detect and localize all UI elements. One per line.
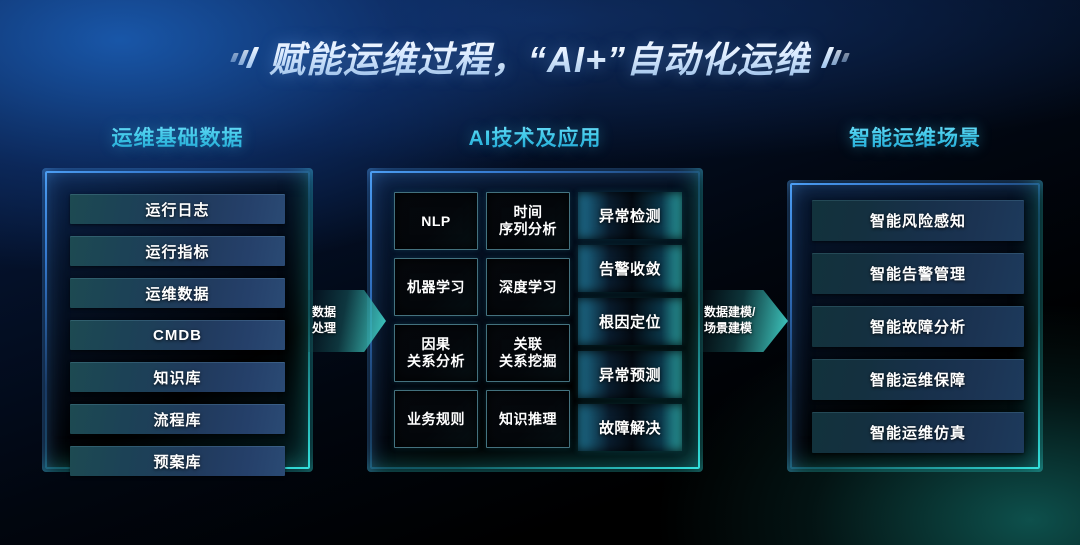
capability-card[interactable]: 故障解决 <box>578 404 682 451</box>
title-bar: 赋能运维过程，“AI+”自动化运维 <box>0 26 1080 88</box>
tech-card[interactable]: NLP <box>394 192 478 250</box>
column-header-middle: AI技术及应用 <box>370 122 700 152</box>
tech-card-label: 因果关系分析 <box>407 336 465 369</box>
arrow-label-2: 数据建模/场景建模 <box>704 305 755 336</box>
tech-card[interactable]: 深度学习 <box>486 258 570 316</box>
tech-card[interactable]: 关联关系挖掘 <box>486 324 570 382</box>
list-item[interactable]: 知识库 <box>70 362 285 392</box>
tech-card-label: 关联关系挖掘 <box>499 336 557 369</box>
list-item[interactable]: CMDB <box>70 320 285 350</box>
list-item[interactable]: 智能故障分析 <box>812 306 1024 347</box>
title-left-slash-decor-icon <box>232 42 255 72</box>
capability-card[interactable]: 异常检测 <box>578 192 682 239</box>
tech-card[interactable]: 机器学习 <box>394 258 478 316</box>
title-right-slash-decor-icon <box>825 42 848 72</box>
ai-tech-grid: NLP时间序列分析机器学习深度学习因果关系分析关联关系挖掘业务规则知识推理 <box>394 192 570 448</box>
tech-card-label: 深度学习 <box>499 279 557 296</box>
tech-card-label: NLP <box>421 213 451 230</box>
tech-card[interactable]: 知识推理 <box>486 390 570 448</box>
list-item[interactable]: 运维数据 <box>70 278 285 308</box>
list-item[interactable]: 预案库 <box>70 446 285 476</box>
slide-canvas: 赋能运维过程，“AI+”自动化运维 运维基础数据 AI技术及应用 智能运维场景 … <box>0 0 1080 545</box>
tech-card[interactable]: 时间序列分析 <box>486 192 570 250</box>
arrow-label-1: 数据处理 <box>312 305 336 336</box>
ai-capability-list: 异常检测告警收敛根因定位异常预测故障解决 <box>578 192 682 451</box>
tech-card-label: 机器学习 <box>407 279 465 296</box>
tech-card-label: 时间序列分析 <box>499 204 557 237</box>
capability-card[interactable]: 根因定位 <box>578 298 682 345</box>
page-title: 赋能运维过程，“AI+”自动化运维 <box>269 31 811 83</box>
capability-card[interactable]: 异常预测 <box>578 351 682 398</box>
scenario-list: 智能风险感知智能告警管理智能故障分析智能运维保障智能运维仿真 <box>812 200 1024 453</box>
list-item[interactable]: 智能运维保障 <box>812 359 1024 400</box>
list-item[interactable]: 智能运维仿真 <box>812 412 1024 453</box>
list-item[interactable]: 智能风险感知 <box>812 200 1024 241</box>
list-item[interactable]: 流程库 <box>70 404 285 434</box>
column-header-left: 运维基础数据 <box>45 122 310 152</box>
tech-card[interactable]: 业务规则 <box>394 390 478 448</box>
list-item[interactable]: 运行指标 <box>70 236 285 266</box>
tech-card-label: 知识推理 <box>499 411 557 428</box>
capability-card[interactable]: 告警收敛 <box>578 245 682 292</box>
tech-card[interactable]: 因果关系分析 <box>394 324 478 382</box>
column-header-right: 智能运维场景 <box>790 122 1040 152</box>
left-data-list: 运行日志运行指标运维数据CMDB知识库流程库预案库 <box>70 194 285 476</box>
arrow-data-modeling: 数据建模/场景建模 <box>700 290 788 352</box>
tech-card-label: 业务规则 <box>407 411 465 428</box>
list-item[interactable]: 运行日志 <box>70 194 285 224</box>
list-item[interactable]: 智能告警管理 <box>812 253 1024 294</box>
